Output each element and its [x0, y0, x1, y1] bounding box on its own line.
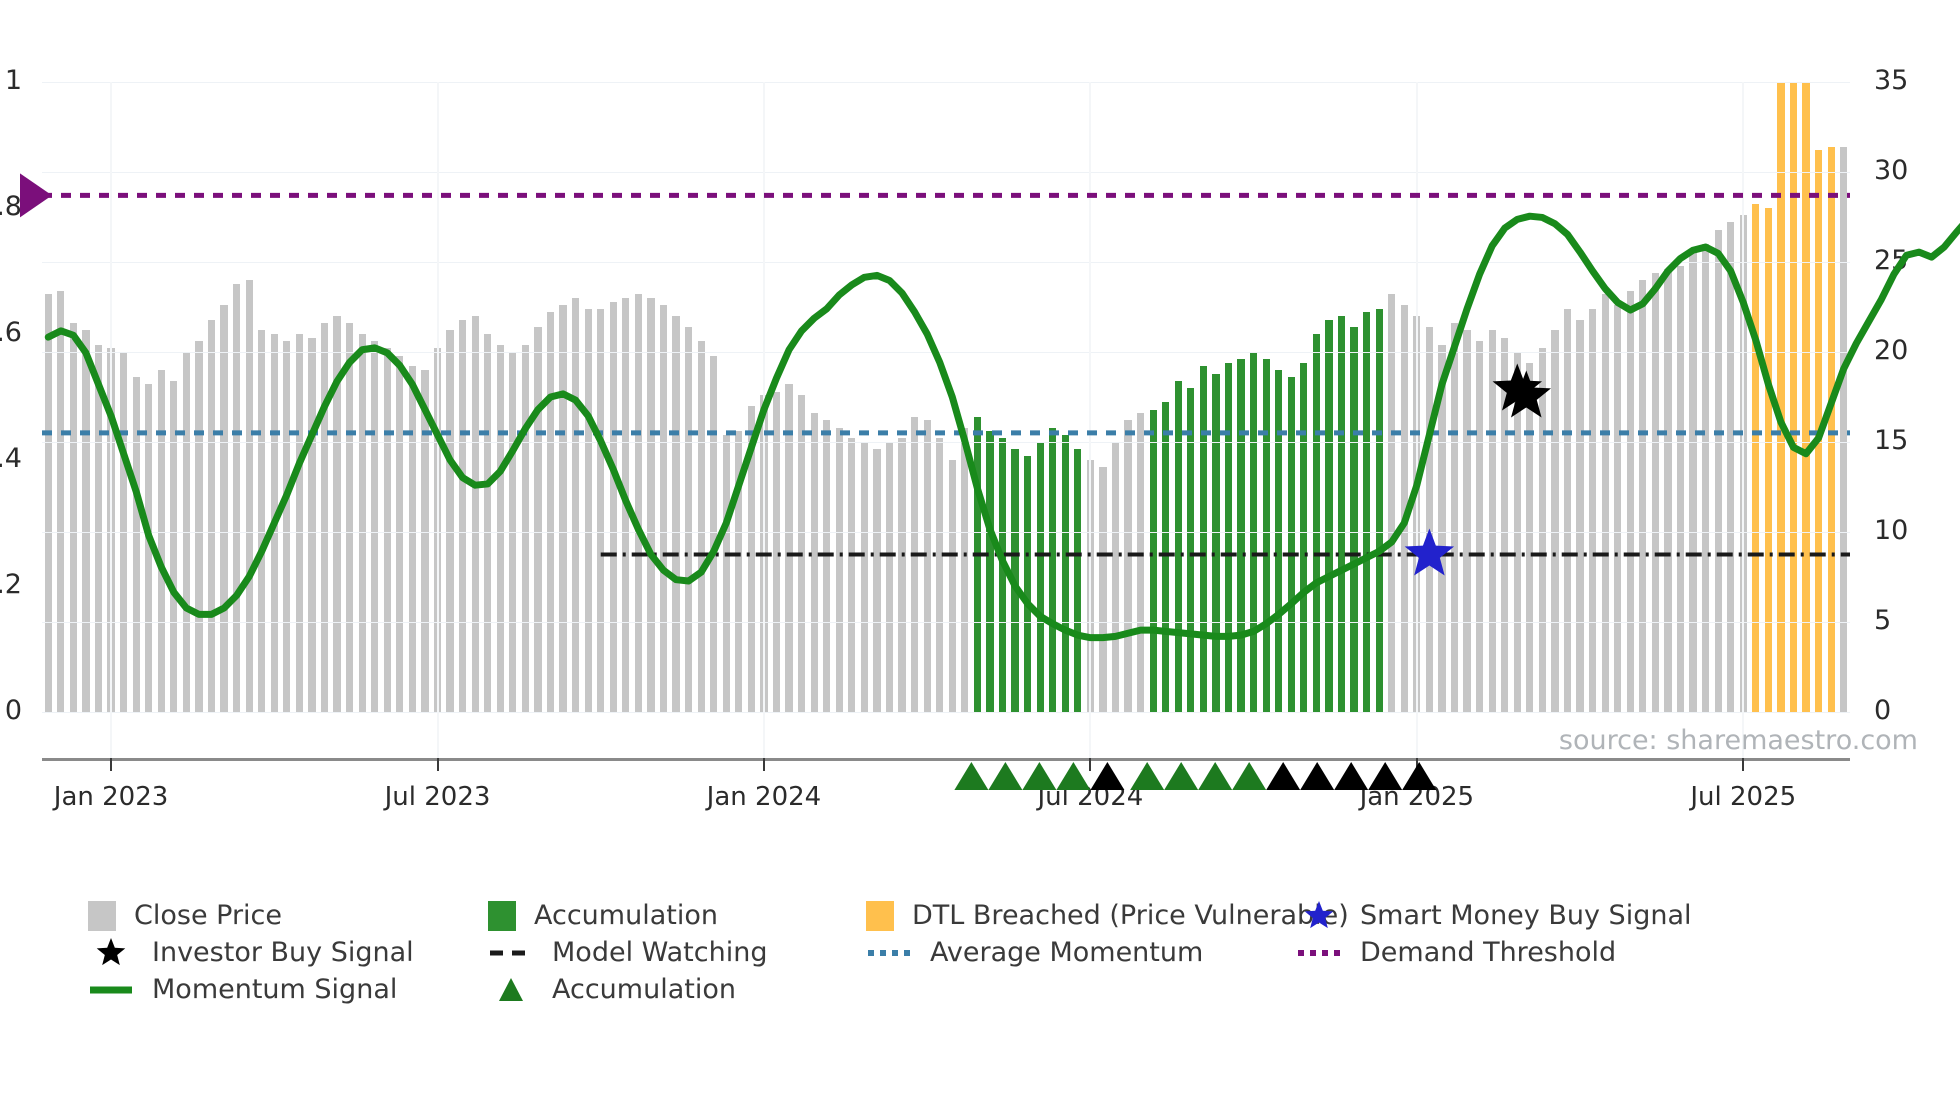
price-bar: [1263, 359, 1270, 712]
price-bar: [559, 305, 566, 712]
price-bar: [1539, 348, 1546, 712]
price-bar: [371, 341, 378, 712]
right-axis-tick-label: 10: [1874, 515, 1954, 546]
price-bar: [409, 366, 416, 712]
legend-label: Demand Threshold: [1360, 937, 1616, 968]
price-bar: [195, 341, 202, 712]
legend-label: Model Watching: [552, 937, 767, 968]
accumulation-triangle-marker: [1164, 762, 1198, 790]
price-bar: [220, 305, 227, 712]
price-bar: [635, 294, 642, 712]
price-bars-group: [42, 82, 1850, 712]
price-bar: [1313, 334, 1320, 712]
price-bar: [572, 298, 579, 712]
price-bar: [1200, 366, 1207, 712]
gridline: [42, 442, 1850, 443]
price-bar: [421, 370, 428, 712]
price-bar: [145, 384, 152, 712]
legend-label: Average Momentum: [930, 937, 1203, 968]
price-bar: [823, 420, 830, 712]
price-bar: [1727, 222, 1734, 712]
x-axis-tick-label: Jan 2024: [707, 782, 822, 812]
x-gridline: [110, 82, 112, 758]
right-axis-tick-label: 5: [1874, 605, 1954, 636]
price-bar: [1300, 363, 1307, 712]
price-bar: [735, 431, 742, 712]
price-bar: [773, 392, 780, 712]
average-momentum-marker-icon: [866, 938, 912, 968]
price-bar: [321, 323, 328, 712]
legend-label: Accumulation: [552, 974, 736, 1005]
price-bar: [647, 298, 654, 712]
price-bar: [1237, 359, 1244, 712]
price-bar: [1225, 363, 1232, 712]
accumulation-triangle-marker-icon: [488, 975, 534, 1005]
price-bar: [1677, 266, 1684, 712]
demand-threshold-marker-icon: [1296, 938, 1342, 968]
price-bar: [1639, 280, 1646, 712]
price-bar: [911, 417, 918, 712]
momentum-signal-marker-icon: [88, 975, 134, 1005]
price-bar: [1325, 320, 1332, 712]
price-bar: [685, 327, 692, 712]
price-bar: [1074, 449, 1081, 712]
price-bar: [446, 330, 453, 712]
right-axis-tick-label: 25: [1874, 245, 1954, 276]
accumulation-bar-swatch-icon: [488, 901, 516, 931]
chart-root: 00.20.40.60.81 05101520253035 Jan 2023Ju…: [0, 0, 1960, 1102]
legend-item-model-watching[interactable]: Model Watching: [488, 937, 866, 968]
x-gridline: [763, 82, 765, 758]
accumulation-triangle-marker: [1300, 762, 1334, 790]
accumulation-triangle-marker: [1266, 762, 1300, 790]
price-bar: [723, 435, 730, 712]
price-bar: [999, 438, 1006, 712]
price-bar: [1112, 442, 1119, 712]
price-bar: [1376, 309, 1383, 712]
price-bar: [133, 377, 140, 712]
price-bar: [170, 381, 177, 712]
x-axis-line: [42, 758, 1850, 761]
left-axis-tick-label: 0.2: [0, 569, 22, 600]
price-bar: [45, 294, 52, 712]
price-bar: [836, 428, 843, 712]
gridline: [42, 532, 1850, 533]
right-axis-tick-label: 0: [1874, 695, 1954, 726]
price-bar: [346, 323, 353, 712]
x-axis-tick-label: Jul 2023: [385, 782, 491, 812]
chart-legend: Close PriceAccumulationDTL Breached (Pri…: [88, 900, 1918, 1011]
price-bar: [1501, 338, 1508, 712]
price-bar: [811, 413, 818, 712]
price-bar: [622, 298, 629, 712]
price-bar: [1840, 147, 1847, 712]
price-bar: [898, 438, 905, 712]
price-bar: [1815, 150, 1822, 712]
price-bar: [246, 280, 253, 712]
smart-money-buy-signal-marker-icon: [1296, 901, 1342, 931]
legend-item-momentum-signal[interactable]: Momentum Signal: [88, 974, 488, 1005]
price-bar: [1777, 82, 1784, 712]
right-axis-tick-label: 30: [1874, 155, 1954, 186]
price-bar: [1049, 428, 1056, 712]
legend-item-investor-buy-signal[interactable]: Investor Buy Signal: [88, 937, 488, 968]
price-bar: [1187, 388, 1194, 712]
right-axis-tick-label: 35: [1874, 65, 1954, 96]
legend-label: Accumulation: [534, 900, 718, 931]
price-bar: [459, 320, 466, 712]
price-bar: [384, 348, 391, 712]
price-bar: [1288, 377, 1295, 712]
legend-item-accumulation-bar[interactable]: Accumulation: [488, 900, 866, 931]
price-bar: [333, 316, 340, 712]
price-bar: [886, 442, 893, 712]
x-axis-tick: [763, 758, 765, 771]
price-bar: [296, 334, 303, 712]
price-bar: [1338, 316, 1345, 712]
x-axis-tick-label: Jan 2023: [54, 782, 169, 812]
gridline: [42, 712, 1850, 713]
legend-label: Momentum Signal: [152, 974, 397, 1005]
price-bar: [1752, 204, 1759, 712]
price-bar: [497, 345, 504, 712]
price-bar: [1124, 420, 1131, 712]
price-bar: [1627, 291, 1634, 712]
price-bar: [1689, 251, 1696, 712]
legend-item-smart-money-buy-signal[interactable]: Smart Money Buy Signal: [1296, 900, 1726, 931]
gridline: [42, 352, 1850, 353]
right-axis-tick-label: 15: [1874, 425, 1954, 456]
x-axis-tick-label: Jul 2025: [1690, 782, 1796, 812]
price-bar: [547, 312, 554, 712]
price-bar: [961, 428, 968, 712]
price-bar: [233, 284, 240, 712]
price-bar: [1614, 305, 1621, 712]
price-bar: [1099, 467, 1106, 712]
price-bar: [534, 327, 541, 712]
left-axis-tick-label: 0.8: [0, 191, 22, 222]
price-bar: [1011, 449, 1018, 712]
price-bar: [1576, 320, 1583, 712]
legend-label: Investor Buy Signal: [152, 937, 414, 968]
price-bar: [936, 438, 943, 712]
investor-buy-signal-marker-icon: [88, 938, 134, 968]
legend-item-demand-threshold[interactable]: Demand Threshold: [1296, 937, 1726, 968]
price-bar: [359, 334, 366, 712]
price-bar: [1350, 327, 1357, 712]
price-bar: [585, 309, 592, 712]
x-gridline: [1089, 82, 1091, 758]
price-bar: [271, 334, 278, 712]
price-bar: [82, 330, 89, 712]
price-bar: [70, 323, 77, 712]
price-bar: [95, 345, 102, 712]
price-bar: [1790, 82, 1797, 712]
price-bar: [848, 438, 855, 712]
x-axis-tick: [110, 758, 112, 771]
left-axis-tick-label: 0.4: [0, 443, 22, 474]
price-bar: [1438, 345, 1445, 712]
price-bar: [660, 305, 667, 712]
gridline: [42, 622, 1850, 623]
x-axis-tick-label: Jul 2024: [1037, 782, 1143, 812]
price-bar: [1037, 442, 1044, 712]
price-bar: [1526, 363, 1533, 712]
source-attribution: source: sharemaestro.com: [1559, 725, 1918, 756]
price-bar: [873, 449, 880, 712]
legend-label: DTL Breached (Price Vulnerable): [912, 900, 1349, 931]
plot-area: [42, 82, 1850, 712]
price-bar: [472, 316, 479, 712]
x-gridline: [437, 82, 439, 758]
gridline: [42, 262, 1850, 263]
price-bar: [1765, 208, 1772, 712]
price-bar: [283, 341, 290, 712]
price-bar: [949, 460, 956, 712]
price-bar: [1137, 413, 1144, 712]
price-bar: [1275, 370, 1282, 712]
price-bar: [158, 370, 165, 712]
price-bar: [698, 341, 705, 712]
x-axis-tick: [1089, 758, 1091, 771]
price-bar: [1212, 374, 1219, 712]
left-axis-tick-label: 1: [0, 65, 22, 96]
price-bar: [1489, 330, 1496, 712]
price-bar: [1589, 309, 1596, 712]
accumulation-triangle-marker: [988, 762, 1022, 790]
gridline: [42, 172, 1850, 173]
legend-label: Close Price: [134, 900, 282, 931]
price-bar: [1451, 323, 1458, 712]
price-bar: [861, 442, 868, 712]
price-bar: [1652, 273, 1659, 712]
price-bar: [208, 320, 215, 712]
legend-item-close-price[interactable]: Close Price: [88, 900, 488, 931]
accumulation-triangle-marker: [954, 762, 988, 790]
price-bar: [785, 384, 792, 712]
price-bar: [1150, 410, 1157, 712]
price-bar: [1664, 269, 1671, 712]
price-bar: [1388, 294, 1395, 712]
legend-row: Momentum SignalAccumulation: [88, 974, 1918, 1005]
legend-row: Investor Buy SignalModel WatchingAverage…: [88, 937, 1918, 968]
accumulation-triangle-marker: [1232, 762, 1266, 790]
price-bar: [1363, 312, 1370, 712]
price-bar: [1828, 147, 1835, 712]
price-bar: [1476, 341, 1483, 712]
accumulation-triangle-marker: [1198, 762, 1232, 790]
price-bar: [1802, 82, 1809, 712]
model-watching-marker-icon: [488, 938, 534, 968]
price-bar: [522, 345, 529, 712]
x-axis-tick: [437, 758, 439, 771]
price-bar: [1401, 305, 1408, 712]
price-bar: [1062, 435, 1069, 712]
price-bar: [974, 417, 981, 712]
dtl-breached-swatch-icon: [866, 901, 894, 931]
right-axis-tick-label: 20: [1874, 335, 1954, 366]
price-bar: [484, 334, 491, 712]
price-bar: [672, 316, 679, 712]
left-axis-tick-label: 0: [0, 695, 22, 726]
price-bar: [610, 302, 617, 712]
left-axis-tick-label: 0.6: [0, 317, 22, 348]
price-bar: [1551, 330, 1558, 712]
price-bar: [308, 338, 315, 712]
price-bar: [258, 330, 265, 712]
price-bar: [1564, 309, 1571, 712]
price-bar: [986, 431, 993, 712]
price-bar: [1162, 402, 1169, 712]
legend-row: Close PriceAccumulationDTL Breached (Pri…: [88, 900, 1918, 931]
price-bar: [1602, 294, 1609, 712]
x-axis-tick: [1416, 758, 1418, 771]
x-axis-tick-label: Jan 2025: [1360, 782, 1475, 812]
price-bar: [924, 420, 931, 712]
close-price-swatch-icon: [88, 901, 116, 931]
price-bar: [1175, 381, 1182, 712]
x-gridline: [1742, 82, 1744, 758]
price-bar: [1426, 327, 1433, 712]
legend-item-dtl-breached[interactable]: DTL Breached (Price Vulnerable): [866, 900, 1296, 931]
price-bar: [597, 309, 604, 712]
legend-label: Smart Money Buy Signal: [1360, 900, 1692, 931]
gridline: [42, 82, 1850, 83]
price-bar: [748, 406, 755, 712]
price-bar: [396, 356, 403, 712]
price-bar: [57, 291, 64, 712]
x-axis-tick: [1742, 758, 1744, 771]
price-bar: [1715, 230, 1722, 712]
legend-item-accumulation-triangle[interactable]: Accumulation: [488, 974, 866, 1005]
price-bar: [710, 356, 717, 712]
x-gridline: [1416, 82, 1418, 758]
price-bar: [1024, 456, 1031, 712]
price-bar: [1463, 330, 1470, 712]
legend-item-average-momentum[interactable]: Average Momentum: [866, 937, 1296, 968]
price-bar: [1702, 244, 1709, 712]
